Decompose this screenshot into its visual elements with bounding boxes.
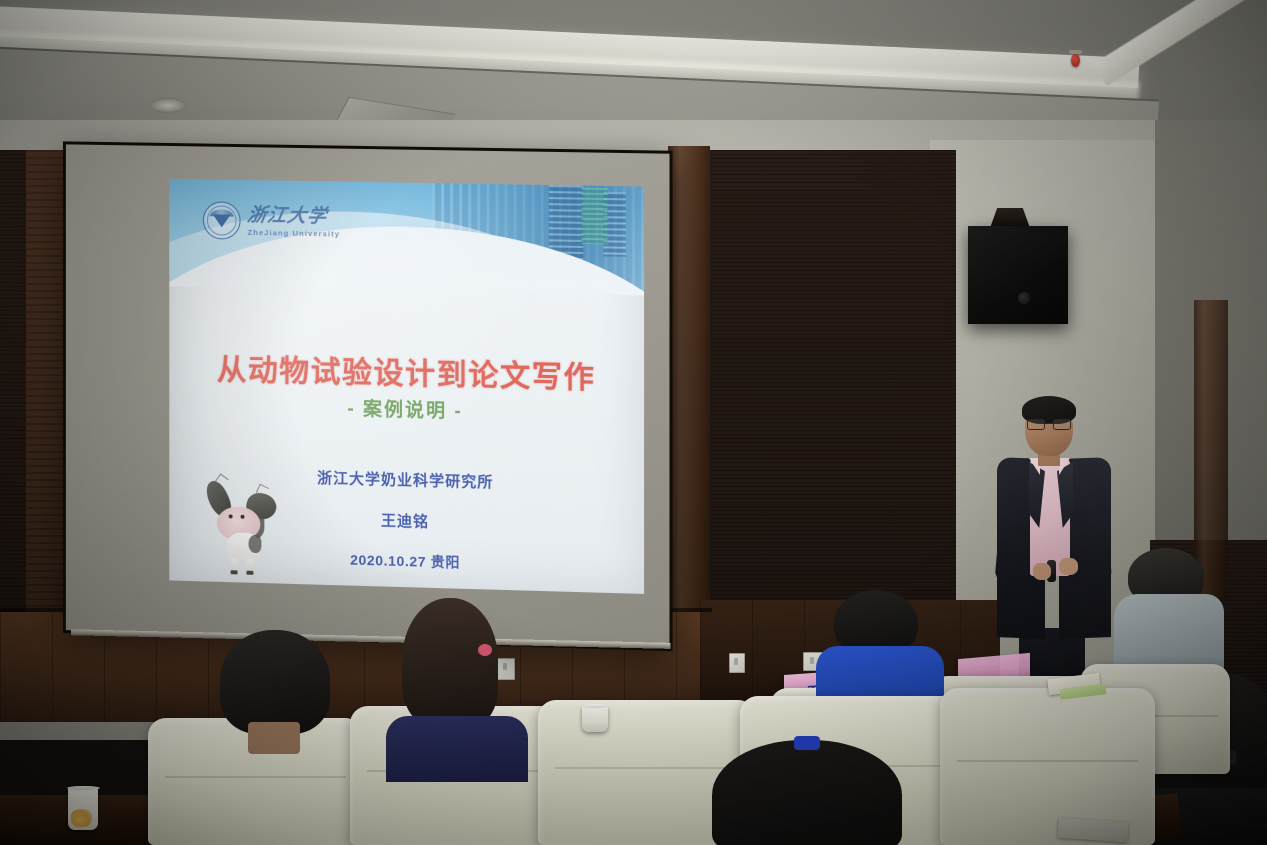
hair-tie-icon — [478, 644, 492, 656]
conference-room-photo: 浙江大学 ZheJiang University 从动物试验设计到论文写作 - … — [0, 0, 1267, 845]
audience-member — [212, 630, 347, 770]
slide-header-band: 浙江大学 ZheJiang University — [169, 179, 644, 296]
audience-neck — [248, 722, 300, 754]
presenter-hand-right — [1059, 558, 1078, 575]
projection-screen[interactable]: 浙江大学 ZheJiang University 从动物试验设计到论文写作 - … — [66, 144, 670, 648]
hair-clip-icon — [794, 736, 820, 750]
speaker-driver-icon — [1018, 292, 1030, 304]
wood-pillar — [668, 146, 710, 676]
slide-title: 从动物试验设计到论文写作 — [169, 344, 644, 399]
zju-seal-icon — [203, 201, 241, 240]
wall-speaker-icon — [968, 226, 1068, 324]
audience-member-foreground-center — [712, 740, 902, 845]
paper-cup — [582, 706, 608, 732]
wall-switch-plate[interactable] — [729, 653, 745, 673]
presenter-hand-left — [1033, 563, 1051, 580]
university-logo: 浙江大学 ZheJiang University — [203, 201, 340, 241]
building-green-glass — [581, 188, 607, 245]
wood-panel-left-edge — [0, 150, 26, 650]
presenter-collar-right — [1059, 458, 1070, 475]
cartoon-cow-icon — [203, 478, 290, 576]
audience-member — [820, 590, 940, 710]
presenter — [985, 400, 1135, 690]
logo-name-cn: 浙江大学 — [246, 206, 342, 227]
logo-name-en: ZheJiang University — [247, 229, 340, 238]
audience-torso — [386, 716, 528, 782]
projected-slide: 浙江大学 ZheJiang University 从动物试验设计到论文写作 - … — [169, 179, 644, 594]
downlight-icon — [150, 98, 186, 113]
audience-member — [392, 598, 522, 768]
audience-hair — [402, 598, 498, 728]
audience-hair — [220, 630, 330, 734]
paper-cup — [68, 788, 98, 830]
glasses-icon — [1027, 419, 1071, 428]
sprinkler-head-icon — [1071, 54, 1080, 67]
audience-hair — [712, 740, 902, 845]
